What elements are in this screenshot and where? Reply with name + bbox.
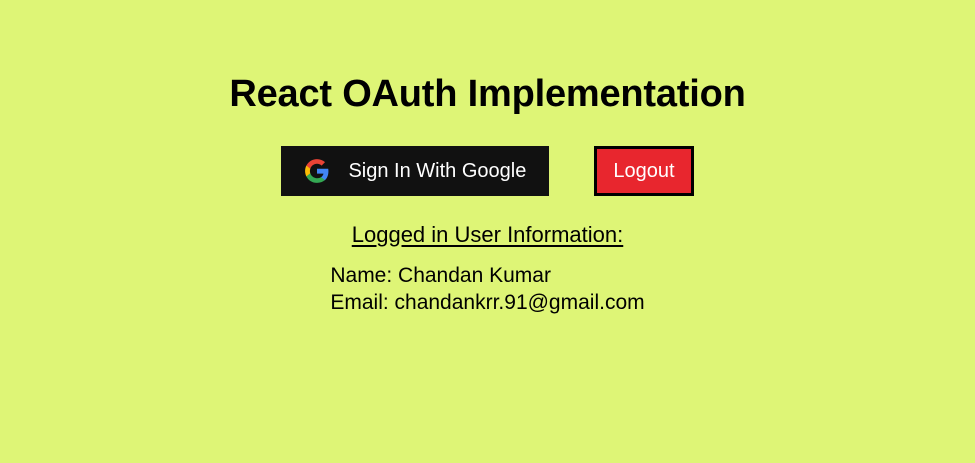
page-title: React OAuth Implementation xyxy=(0,0,975,116)
user-name-line: Name: Chandan Kumar xyxy=(330,262,644,289)
user-info-details: Name: Chandan Kumar Email: chandankrr.91… xyxy=(330,262,644,316)
google-sign-in-button[interactable]: Sign In With Google xyxy=(281,146,549,196)
google-g-icon xyxy=(304,158,330,184)
user-email-line: Email: chandankrr.91@gmail.com xyxy=(330,289,644,316)
logout-button[interactable]: Logout xyxy=(594,146,693,196)
auth-button-row: Sign In With Google Logout xyxy=(0,146,975,196)
app-root: React OAuth Implementation Sign In With … xyxy=(0,0,975,463)
google-sign-in-label: Sign In With Google xyxy=(348,161,526,181)
user-info-heading: Logged in User Information: xyxy=(0,222,975,248)
user-info-section: Logged in User Information: Name: Chanda… xyxy=(0,222,975,316)
